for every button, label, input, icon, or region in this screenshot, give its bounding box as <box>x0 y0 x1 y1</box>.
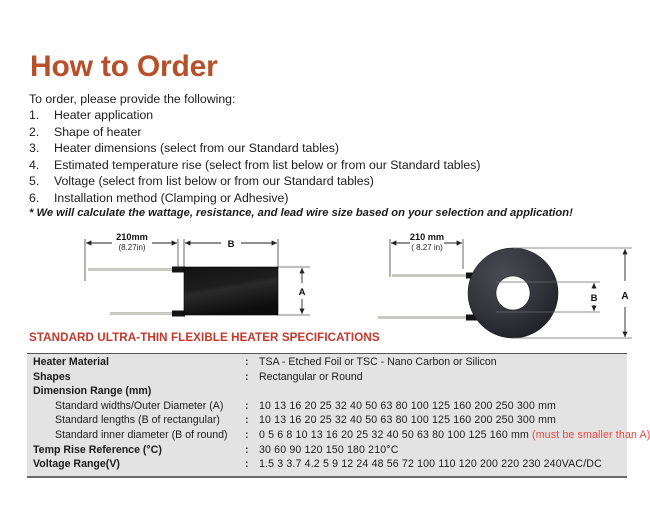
rect-width-label: B <box>228 239 235 250</box>
spec-section-title: STANDARD ULTRA-THIN FLEXIBLE HEATER SPEC… <box>29 331 380 344</box>
spec-table: Heater Material : TSA - Etched Foil or T… <box>27 353 627 478</box>
list-item: 4. Estimated temperature rise (select fr… <box>29 158 629 175</box>
round-heater-diagram <box>378 239 632 338</box>
table-row: Shapes : Rectangular or Round <box>27 371 627 386</box>
intro-text: To order, please provide the following: <box>29 92 235 106</box>
table-row: Heater Material : TSA - Etched Foil or T… <box>27 356 627 371</box>
row-colon: : <box>245 458 259 470</box>
list-item: 1. Heater application <box>29 108 629 125</box>
row-value-wrapper: 0 5 6 8 10 13 16 20 25 32 40 50 63 80 10… <box>259 429 650 441</box>
row-label: Shapes <box>27 371 245 383</box>
heater-diagrams: 210mm (8.27in) B A 210 mm ( 8.27 in) B A <box>0 225 650 345</box>
page-root: How to Order To order, please provide th… <box>0 0 650 523</box>
round-outer-label: A <box>621 291 628 302</box>
list-item-label: Heater dimensions (select from our Stand… <box>54 141 339 155</box>
row-value: 10 13 16 20 25 32 40 50 63 80 100 125 16… <box>259 414 627 426</box>
row-value: Rectangular or Round <box>259 371 627 383</box>
row-value-note: (must be smaller than A) <box>529 429 650 441</box>
list-item-label: Estimated temperature rise (select from … <box>54 158 480 172</box>
rect-lead-length-mm: 210mm <box>116 232 148 242</box>
list-item-number: 2. <box>29 125 54 139</box>
row-colon: : <box>245 356 259 368</box>
table-row: Standard lengths (B of rectangular) : 10… <box>27 414 627 429</box>
row-label: Temp Rise Reference (°C) <box>27 444 245 456</box>
row-colon: : <box>245 400 259 412</box>
list-item-label: Voltage (select from list below or from … <box>54 174 374 188</box>
table-row: Standard widths/Outer Diameter (A) : 10 … <box>27 400 627 415</box>
round-inner-label: B <box>591 293 598 304</box>
row-colon: : <box>245 444 259 456</box>
round-lead-length-in: ( 8.27 in) <box>411 243 443 252</box>
table-row: Temp Rise Reference (°C) : 30 60 90 120 … <box>27 444 627 459</box>
row-label: Standard widths/Outer Diameter (A) <box>27 400 245 412</box>
list-item-number: 6. <box>29 191 54 205</box>
list-item-number: 1. <box>29 108 54 122</box>
row-label: Voltage Range(V) <box>27 458 245 470</box>
list-item-number: 4. <box>29 158 54 172</box>
row-colon: : <box>245 414 259 426</box>
list-item: 3. Heater dimensions (select from our St… <box>29 141 629 158</box>
list-item-number: 5. <box>29 174 54 188</box>
table-row: Standard inner diameter (B of round) : 0… <box>27 429 627 444</box>
list-item: 5. Voltage (select from list below or fr… <box>29 174 629 191</box>
row-value: 0 5 6 8 10 13 16 20 25 32 40 50 63 80 10… <box>259 429 529 441</box>
page-title: How to Order <box>30 52 218 82</box>
row-label: Dimension Range (mm) <box>27 385 245 397</box>
order-steps-list: 1. Heater application 2. Shape of heater… <box>29 108 629 207</box>
rect-height-label: A <box>299 287 306 298</box>
table-row: Dimension Range (mm) <box>27 385 627 400</box>
list-item-number: 3. <box>29 141 54 155</box>
row-value: 10 13 16 20 25 32 40 50 63 80 100 125 16… <box>259 400 627 412</box>
rect-lead-length-in: (8.27in) <box>118 243 145 252</box>
list-item: 2. Shape of heater <box>29 125 629 142</box>
row-colon: : <box>245 429 259 441</box>
row-label: Standard lengths (B of rectangular) <box>27 414 245 426</box>
row-colon: : <box>245 371 259 383</box>
row-label: Heater Material <box>27 356 245 368</box>
row-value: 30 60 90 120 150 180 210°C <box>259 444 627 456</box>
row-label: Standard inner diameter (B of round) <box>27 429 245 441</box>
row-value: TSA - Etched Foil or TSC - Nano Carbon o… <box>259 356 627 368</box>
table-row: Voltage Range(V) : 1.5 3 3.7 4.2 5 9 12 … <box>27 458 627 473</box>
list-item-label: Installation method (Clamping or Adhesiv… <box>54 191 288 205</box>
list-item-label: Shape of heater <box>54 125 142 139</box>
footnote-text: * We will calculate the wattage, resista… <box>29 207 573 219</box>
row-value: 1.5 3 3.7 4.2 5 9 12 24 48 56 72 100 110… <box>259 458 627 470</box>
list-item-label: Heater application <box>54 108 153 122</box>
round-lead-length-mm: 210 mm <box>410 232 444 242</box>
list-item: 6. Installation method (Clamping or Adhe… <box>29 191 629 208</box>
